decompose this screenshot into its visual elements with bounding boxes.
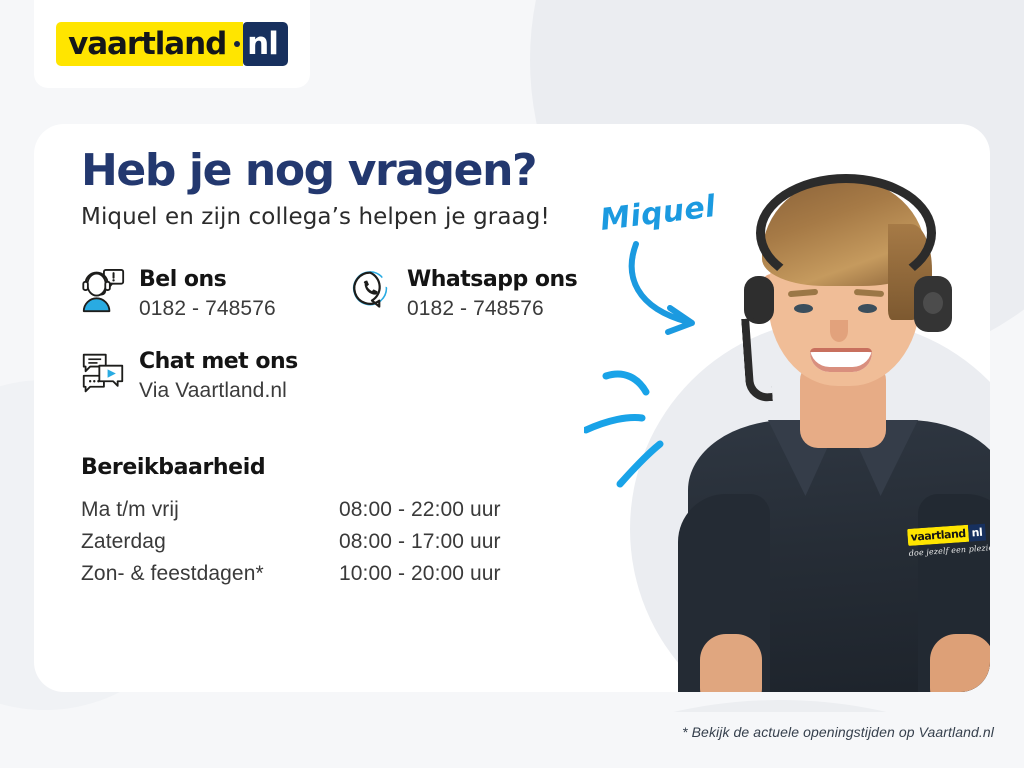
page-title: Heb je nog vragen?	[81, 148, 641, 194]
polo-logo-wordmark: vaartland	[907, 525, 969, 546]
hours-day: Zon- & feestdagen*	[81, 558, 339, 590]
contact-chat-title: Chat met ons	[139, 349, 298, 374]
card-content: Heb je nog vragen? Miquel en zijn colleg…	[81, 148, 641, 590]
contact-call-value[interactable]: 0182 - 748576	[139, 297, 276, 321]
headset-band-icon	[756, 174, 936, 292]
footnote: * Bekijk de actuele openingstijden op Va…	[682, 724, 994, 740]
table-row: Ma t/m vrij 08:00 - 22:00 uur	[81, 494, 501, 526]
chat-bubbles-icon	[81, 350, 125, 396]
right-forearm	[930, 634, 990, 692]
polo-brand-logo: vaartland nl doe jezelf een plezier	[907, 523, 990, 558]
contact-method-chat[interactable]: Chat met ons Via Vaartland.nl	[81, 348, 349, 403]
contact-method-call-text: Bel ons 0182 - 748576	[139, 266, 276, 321]
nose	[830, 320, 848, 342]
contact-method-call[interactable]: Bel ons 0182 - 748576	[81, 266, 349, 321]
hours-time: 08:00 - 22:00 uur	[339, 494, 501, 526]
logo-wordmark: vaartland	[56, 22, 234, 66]
logo-dot-icon	[234, 22, 243, 66]
hours-time: 08:00 - 17:00 uur	[339, 526, 501, 558]
brand-logo-card[interactable]: vaartland nl	[34, 0, 310, 88]
opening-hours-table: Ma t/m vrij 08:00 - 22:00 uur Zaterdag 0…	[81, 494, 501, 590]
contact-whatsapp-title: Whatsapp ons	[407, 267, 577, 292]
eye-left	[794, 304, 813, 313]
background-bottom-strip	[0, 712, 1024, 768]
contact-card: Heb je nog vragen? Miquel en zijn colleg…	[34, 124, 990, 692]
contact-methods: Bel ons 0182 - 748576 Whatsapp ons 018	[81, 266, 641, 403]
vaartland-logo: vaartland nl	[56, 22, 288, 66]
opening-hours-title: Bereikbaarheid	[81, 455, 641, 480]
whatsapp-icon	[349, 268, 393, 314]
eye-right	[858, 304, 877, 313]
polo-logo-tld: nl	[968, 524, 986, 542]
contact-call-title: Bel ons	[139, 267, 226, 292]
hours-day: Ma t/m vrij	[81, 494, 339, 526]
opening-hours: Bereikbaarheid Ma t/m vrij 08:00 - 22:00…	[81, 455, 641, 590]
contact-method-chat-text: Chat met ons Via Vaartland.nl	[139, 348, 298, 403]
mouth	[810, 348, 872, 372]
headset-agent-icon	[81, 268, 125, 314]
headset-earcup-right	[914, 276, 952, 332]
table-row: Zaterdag 08:00 - 17:00 uur	[81, 526, 501, 558]
employee-photo: Miquel	[570, 124, 990, 692]
page-subtitle: Miquel en zijn collega’s helpen je graag…	[81, 204, 641, 230]
hours-day: Zaterdag	[81, 526, 339, 558]
table-row: Zon- & feestdagen* 10:00 - 20:00 uur	[81, 558, 501, 590]
hours-time: 10:00 - 20:00 uur	[339, 558, 501, 590]
logo-tld: nl	[243, 22, 288, 66]
employee-illustration: vaartland nl doe jezelf een plezier	[682, 134, 990, 692]
contact-method-whatsapp-text: Whatsapp ons 0182 - 748576	[407, 266, 577, 321]
left-forearm	[700, 634, 762, 692]
contact-whatsapp-value[interactable]: 0182 - 748576	[407, 297, 577, 321]
contact-chat-value[interactable]: Via Vaartland.nl	[139, 379, 298, 403]
headset-microphone	[741, 317, 773, 403]
